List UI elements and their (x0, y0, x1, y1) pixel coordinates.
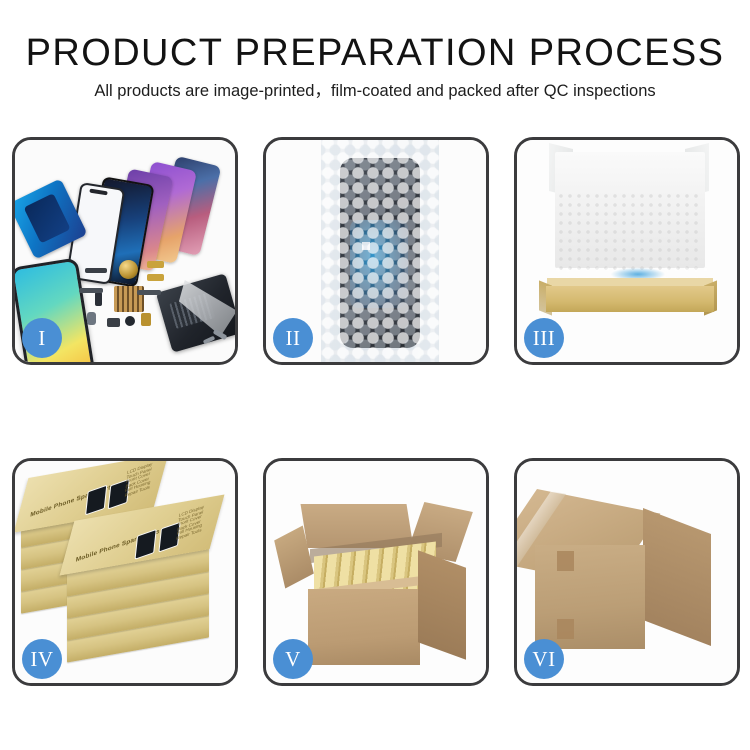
step-badge-3: III (524, 318, 564, 358)
step-badge-1: I (22, 318, 62, 358)
speaker-coil-part (119, 260, 138, 279)
mailer-front-wall (546, 286, 714, 312)
step-badge-6: VI (524, 639, 564, 679)
step-badge-2: II (273, 318, 313, 358)
page-subtitle: All products are image-printed，film-coat… (0, 80, 750, 102)
bubble-wrap-pouch (321, 140, 439, 362)
step-panel-2[interactable]: II (263, 137, 489, 365)
carton-handle-tab-upper (557, 551, 574, 571)
step-badge-5: V (273, 639, 313, 679)
foam-liner (557, 192, 703, 270)
carton-side-face (418, 550, 466, 659)
sealed-carton-front (535, 545, 645, 649)
step-badge-4: IV (22, 639, 62, 679)
step-panel-4[interactable]: Mobile Phone Spare Parts LCD Display Tou… (12, 458, 238, 686)
step-panel-6[interactable]: VI (514, 458, 740, 686)
retail-box-checklist-front: LCD Display Touch Panel Front Cover Back… (176, 505, 204, 541)
step-panel-1[interactable]: I (12, 137, 238, 365)
header: PRODUCT PREPARATION PROCESS All products… (0, 0, 750, 102)
step-panel-5[interactable]: V (263, 458, 489, 686)
carton-handle-tab-lower (557, 619, 574, 639)
page-title: PRODUCT PREPARATION PROCESS (0, 33, 750, 73)
step-panel-3[interactable]: III (514, 137, 740, 365)
carton-front-face (308, 589, 420, 665)
retail-box-checklist-back: LCD Display Touch Panel Front Cover Back… (124, 462, 152, 498)
process-step-grid: I II (12, 137, 738, 686)
